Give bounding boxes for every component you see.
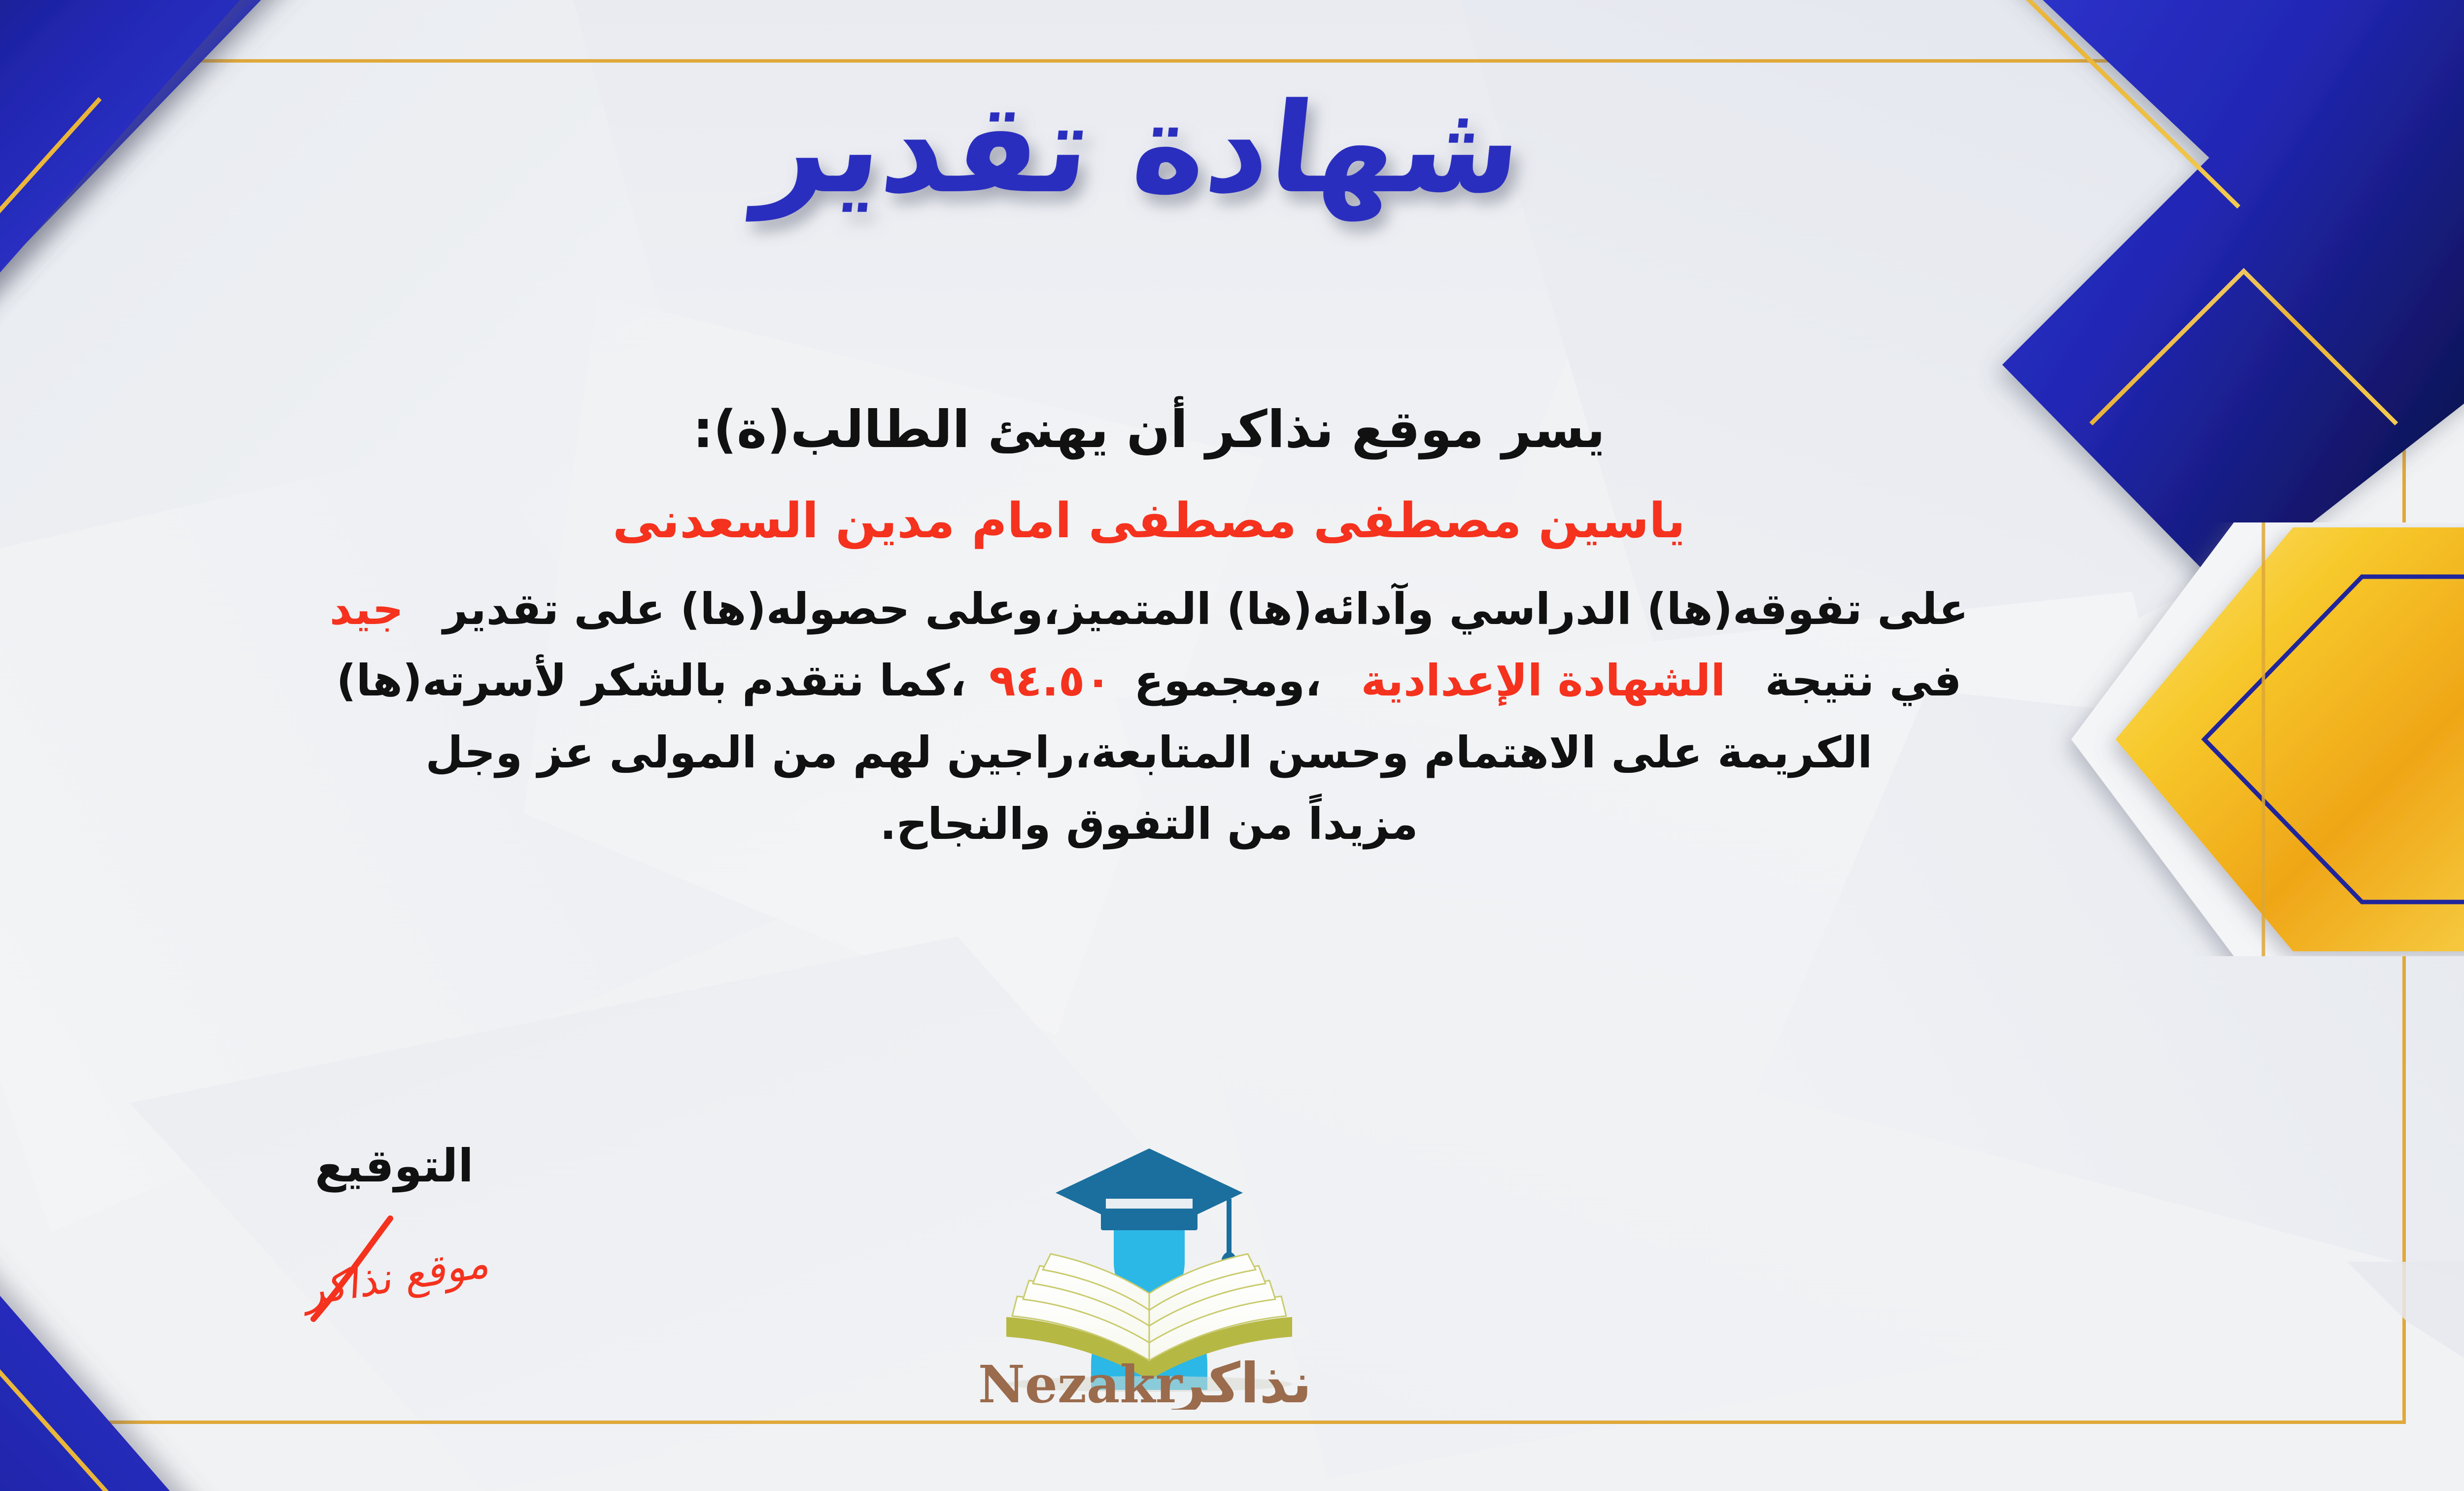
- bottom-right-decoration: [2101, 1262, 2464, 1491]
- body-line-1: على تفوقه(ها) الدراسي وآدائه(ها) المتميز…: [0, 579, 2361, 639]
- svg-text:موقع نذاكر: موقع نذاكر: [304, 1238, 492, 1317]
- certificate-body: يسر موقع نذاكر أن يهنئ الطالب(ة): ياسين …: [0, 394, 2361, 866]
- body-line-4: مزيداً من التفوق والنجاح.: [0, 794, 2361, 854]
- stage-value: الشهادة الإعدادية: [1361, 655, 1726, 706]
- body-line-1-text: على تفوقه(ها) الدراسي وآدائه(ها) المتميز…: [443, 584, 1968, 634]
- certificate-title: شهادة تقدير: [681, 59, 1617, 246]
- body-line-2: في نتيجةالشهادة الإعدادية،ومجموع٩٤.٥٠،كم…: [0, 651, 2361, 710]
- graduate-book-logo-icon: نذاكر Nezakr: [927, 1134, 1371, 1410]
- svg-text:Nezakr: Nezakr: [978, 1354, 1183, 1410]
- total-score-value: ٩٤.٥٠: [989, 655, 1111, 706]
- svg-text:نذاكر: نذاكر: [1171, 1352, 1312, 1410]
- svg-text:شهادة تقدير: شهادة تقدير: [745, 76, 1529, 222]
- greeting-line: يسر موقع نذاكر أن يهنئ الطالب(ة):: [0, 394, 2361, 465]
- handwritten-signature: موقع نذاكر: [266, 1214, 522, 1328]
- grade-value: جيد: [330, 584, 404, 634]
- student-name: ياسين مصطفى مصطفى امام مدين السعدنى: [0, 488, 2361, 555]
- certificate-canvas: شهادة تقدير يسر موقع نذاكر أن يهنئ الطال…: [0, 0, 2464, 1491]
- signature-label: التوقيع: [207, 1144, 582, 1189]
- body-line-2-mid: ،ومجموع: [1134, 655, 1321, 706]
- body-line-2-suffix: ،كما نتقدم بالشكر لأسرته(ها): [336, 655, 966, 706]
- title-block: شهادة تقدير: [0, 59, 2464, 246]
- signature-block: التوقيع موقع نذاكر: [207, 1144, 582, 1330]
- site-logo: نذاكر Nezakr: [927, 1134, 1371, 1412]
- body-line-3: الكريمة على الاهتمام وحسن المتابعة،راجين…: [0, 723, 2361, 782]
- body-line-2-prefix: في نتيجة: [1765, 655, 1962, 706]
